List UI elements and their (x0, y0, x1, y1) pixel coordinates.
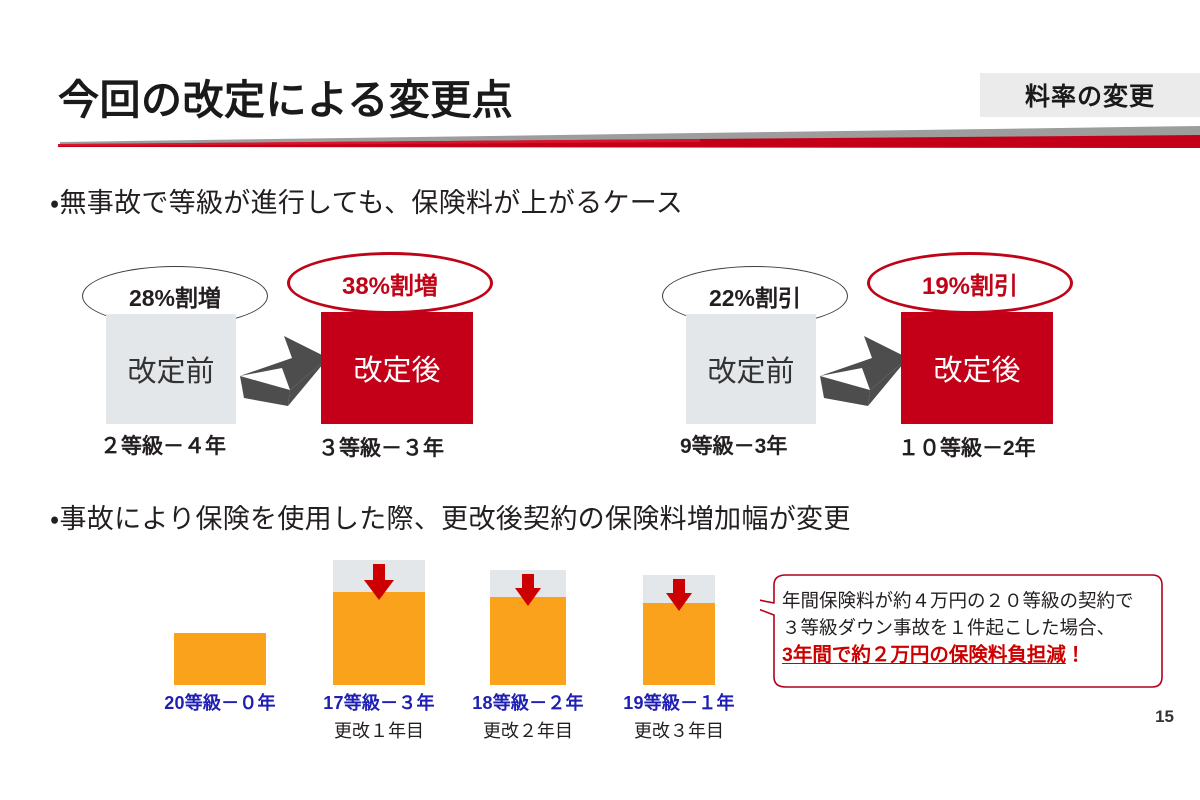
savings-callout: 年間保険料が約４万円の２０等級の契約で ３等級ダウン事故を１件起こした場合、 3… (760, 573, 1164, 690)
bar-column-1: 20等級－０年 (174, 555, 266, 685)
bar-year-label-4: 更改３年目 (569, 717, 789, 743)
callout-line-3: 3年間で約２万円の保険料負担減！ (782, 641, 1152, 669)
bar-gray-cap-3 (490, 570, 566, 597)
callout-exclamation: ！ (1066, 644, 1086, 666)
bar-stack-3 (490, 570, 566, 685)
callout-line-1: 年間保険料が約４万円の２０等級の契約で (782, 588, 1152, 615)
bar-gray-cap-4 (643, 575, 715, 603)
callout-text-block: 年間保険料が約４万円の２０等級の契約で ３等級ダウン事故を１件起こした場合、 3… (782, 588, 1152, 669)
bar-gray-cap-2 (333, 560, 425, 592)
page-number: 15 (1155, 707, 1174, 727)
callout-line-2: ３等級ダウン事故を１件起こした場合、 (782, 615, 1152, 642)
bar-column-2: 17等級－３年 更改１年目 (333, 555, 425, 685)
bar-orange-1 (174, 633, 266, 685)
bar-column-3: 18等級－２年 更改２年目 (490, 555, 566, 685)
bar-labels-4: 19等級－１年 更改３年目 (569, 689, 789, 743)
bar-grade-label-4: 19等級－１年 (569, 689, 789, 715)
callout-emphasis-text: 3年間で約２万円の保険料負担減 (782, 644, 1066, 666)
decrease-arrow-icon-3 (512, 572, 544, 613)
decrease-arrow-icon-4 (663, 577, 695, 618)
bar-stack-2 (333, 560, 425, 685)
bar-column-4: 19等級－１年 更改３年目 (643, 555, 715, 685)
bar-stack-4 (643, 575, 715, 685)
bar-stack-1 (174, 633, 266, 685)
decrease-arrow-icon-2 (361, 562, 397, 607)
slide-canvas: 今回の改定による変更点 料率の変更 ・無事故で等級が進行しても、保険料が上がるケ… (0, 0, 1200, 800)
